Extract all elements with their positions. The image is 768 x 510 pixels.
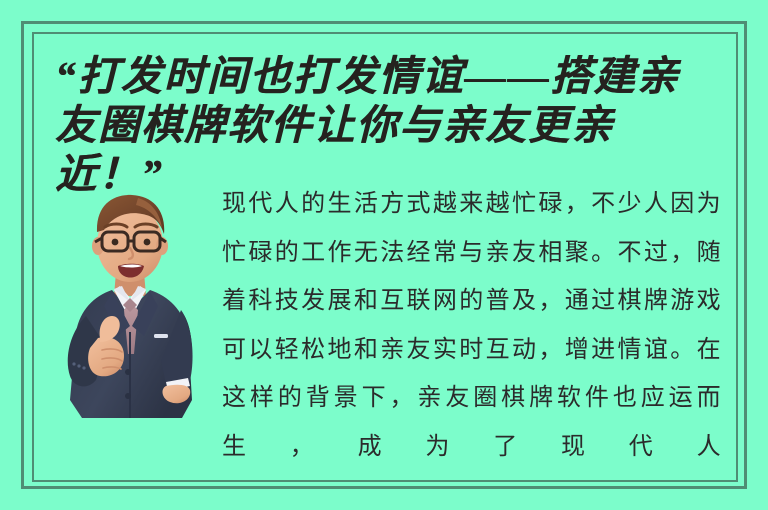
poster-canvas: “打发时间也打发情谊——搭建亲友圈棋牌软件让你与亲友更亲近！” [0,0,768,510]
article-body-text: 现代人的生活方式越来越忙碌，不少人因为忙碌的工作无法经常与亲友相聚。不过，随着科… [222,180,722,480]
businessman-thumbs-up-illustration [42,186,218,434]
page-title: “打发时间也打发情谊——搭建亲友圈棋牌软件让你与亲友更亲近！” [55,52,715,199]
